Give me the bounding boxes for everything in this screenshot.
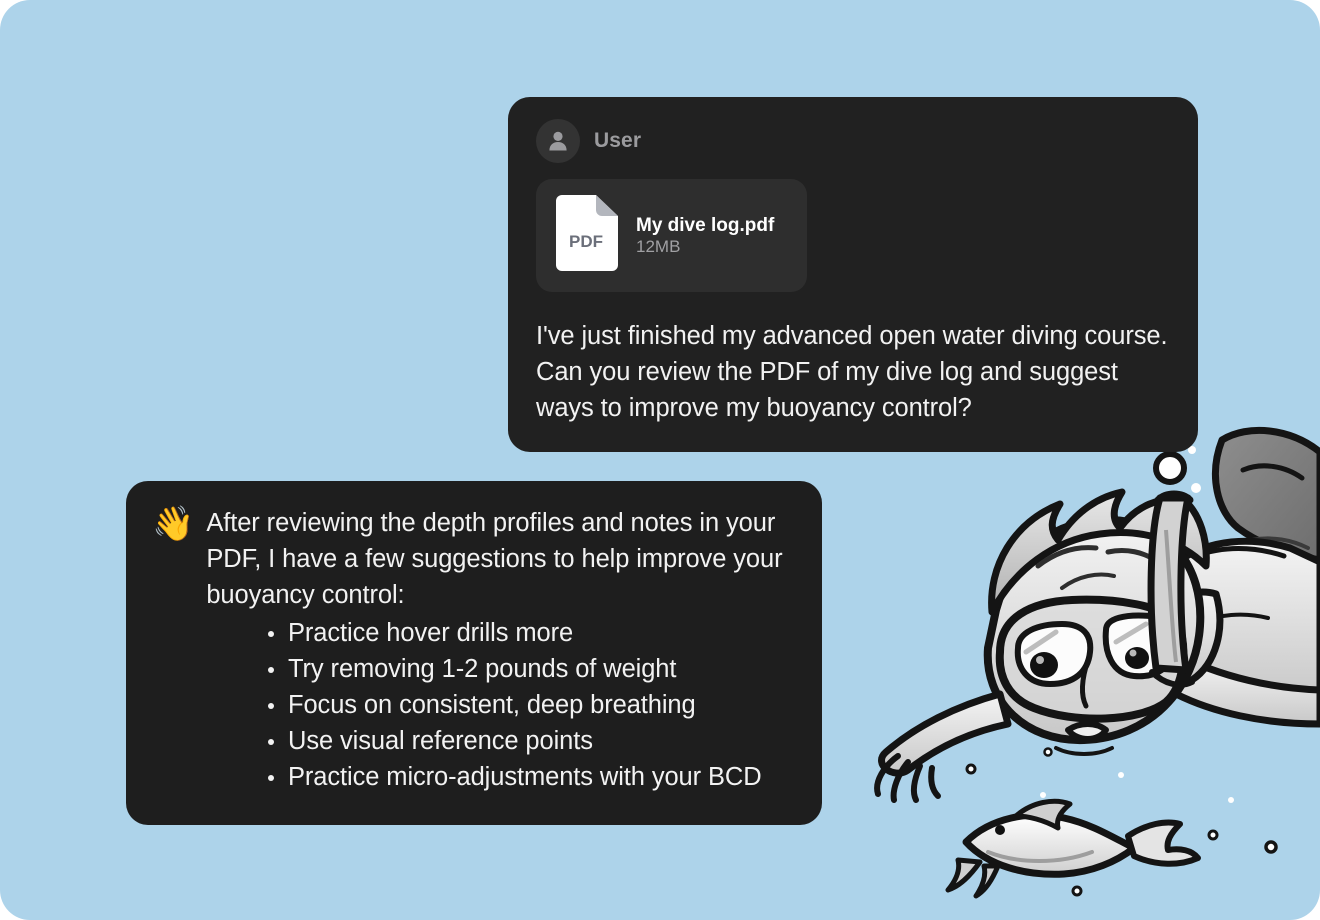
diver-figure [877, 430, 1320, 800]
bubble-cluster [967, 384, 1276, 896]
list-item: Use visual reference points [262, 723, 796, 759]
list-item: Focus on consistent, deep breathing [262, 687, 796, 723]
user-message-text: I've just finished my advanced open wate… [536, 318, 1170, 426]
user-sender-label: User [594, 129, 641, 153]
svg-text:PDF: PDF [569, 232, 603, 251]
assistant-intro-row: 👋 After reviewing the depth profiles and… [152, 505, 796, 613]
screenshot-canvas: User PDF My dive log.pdf 12MB I've just … [0, 0, 1320, 920]
pdf-attachment-card[interactable]: PDF My dive log.pdf 12MB [536, 179, 807, 292]
fish-illustration [948, 801, 1198, 896]
attachment-file-name: My dive log.pdf [636, 215, 774, 236]
attachment-file-size: 12MB [636, 237, 680, 256]
user-avatar-icon [536, 119, 580, 163]
assistant-suggestion-list: Practice hover drills more Try removing … [152, 615, 796, 795]
waving-hand-icon: 👋 [152, 505, 194, 543]
user-message-header: User [536, 119, 1170, 163]
list-item: Practice micro-adjustments with your BCD [262, 759, 796, 795]
attachment-meta: My dive log.pdf 12MB [636, 215, 787, 257]
list-item: Practice hover drills more [262, 615, 796, 651]
user-message-bubble: User PDF My dive log.pdf 12MB I've just … [508, 97, 1198, 452]
assistant-message-bubble: 👋 After reviewing the depth profiles and… [126, 481, 822, 825]
pdf-file-icon: PDF [556, 195, 618, 276]
assistant-intro-text: After reviewing the depth profiles and n… [206, 505, 796, 613]
list-item: Try removing 1-2 pounds of weight [262, 651, 796, 687]
